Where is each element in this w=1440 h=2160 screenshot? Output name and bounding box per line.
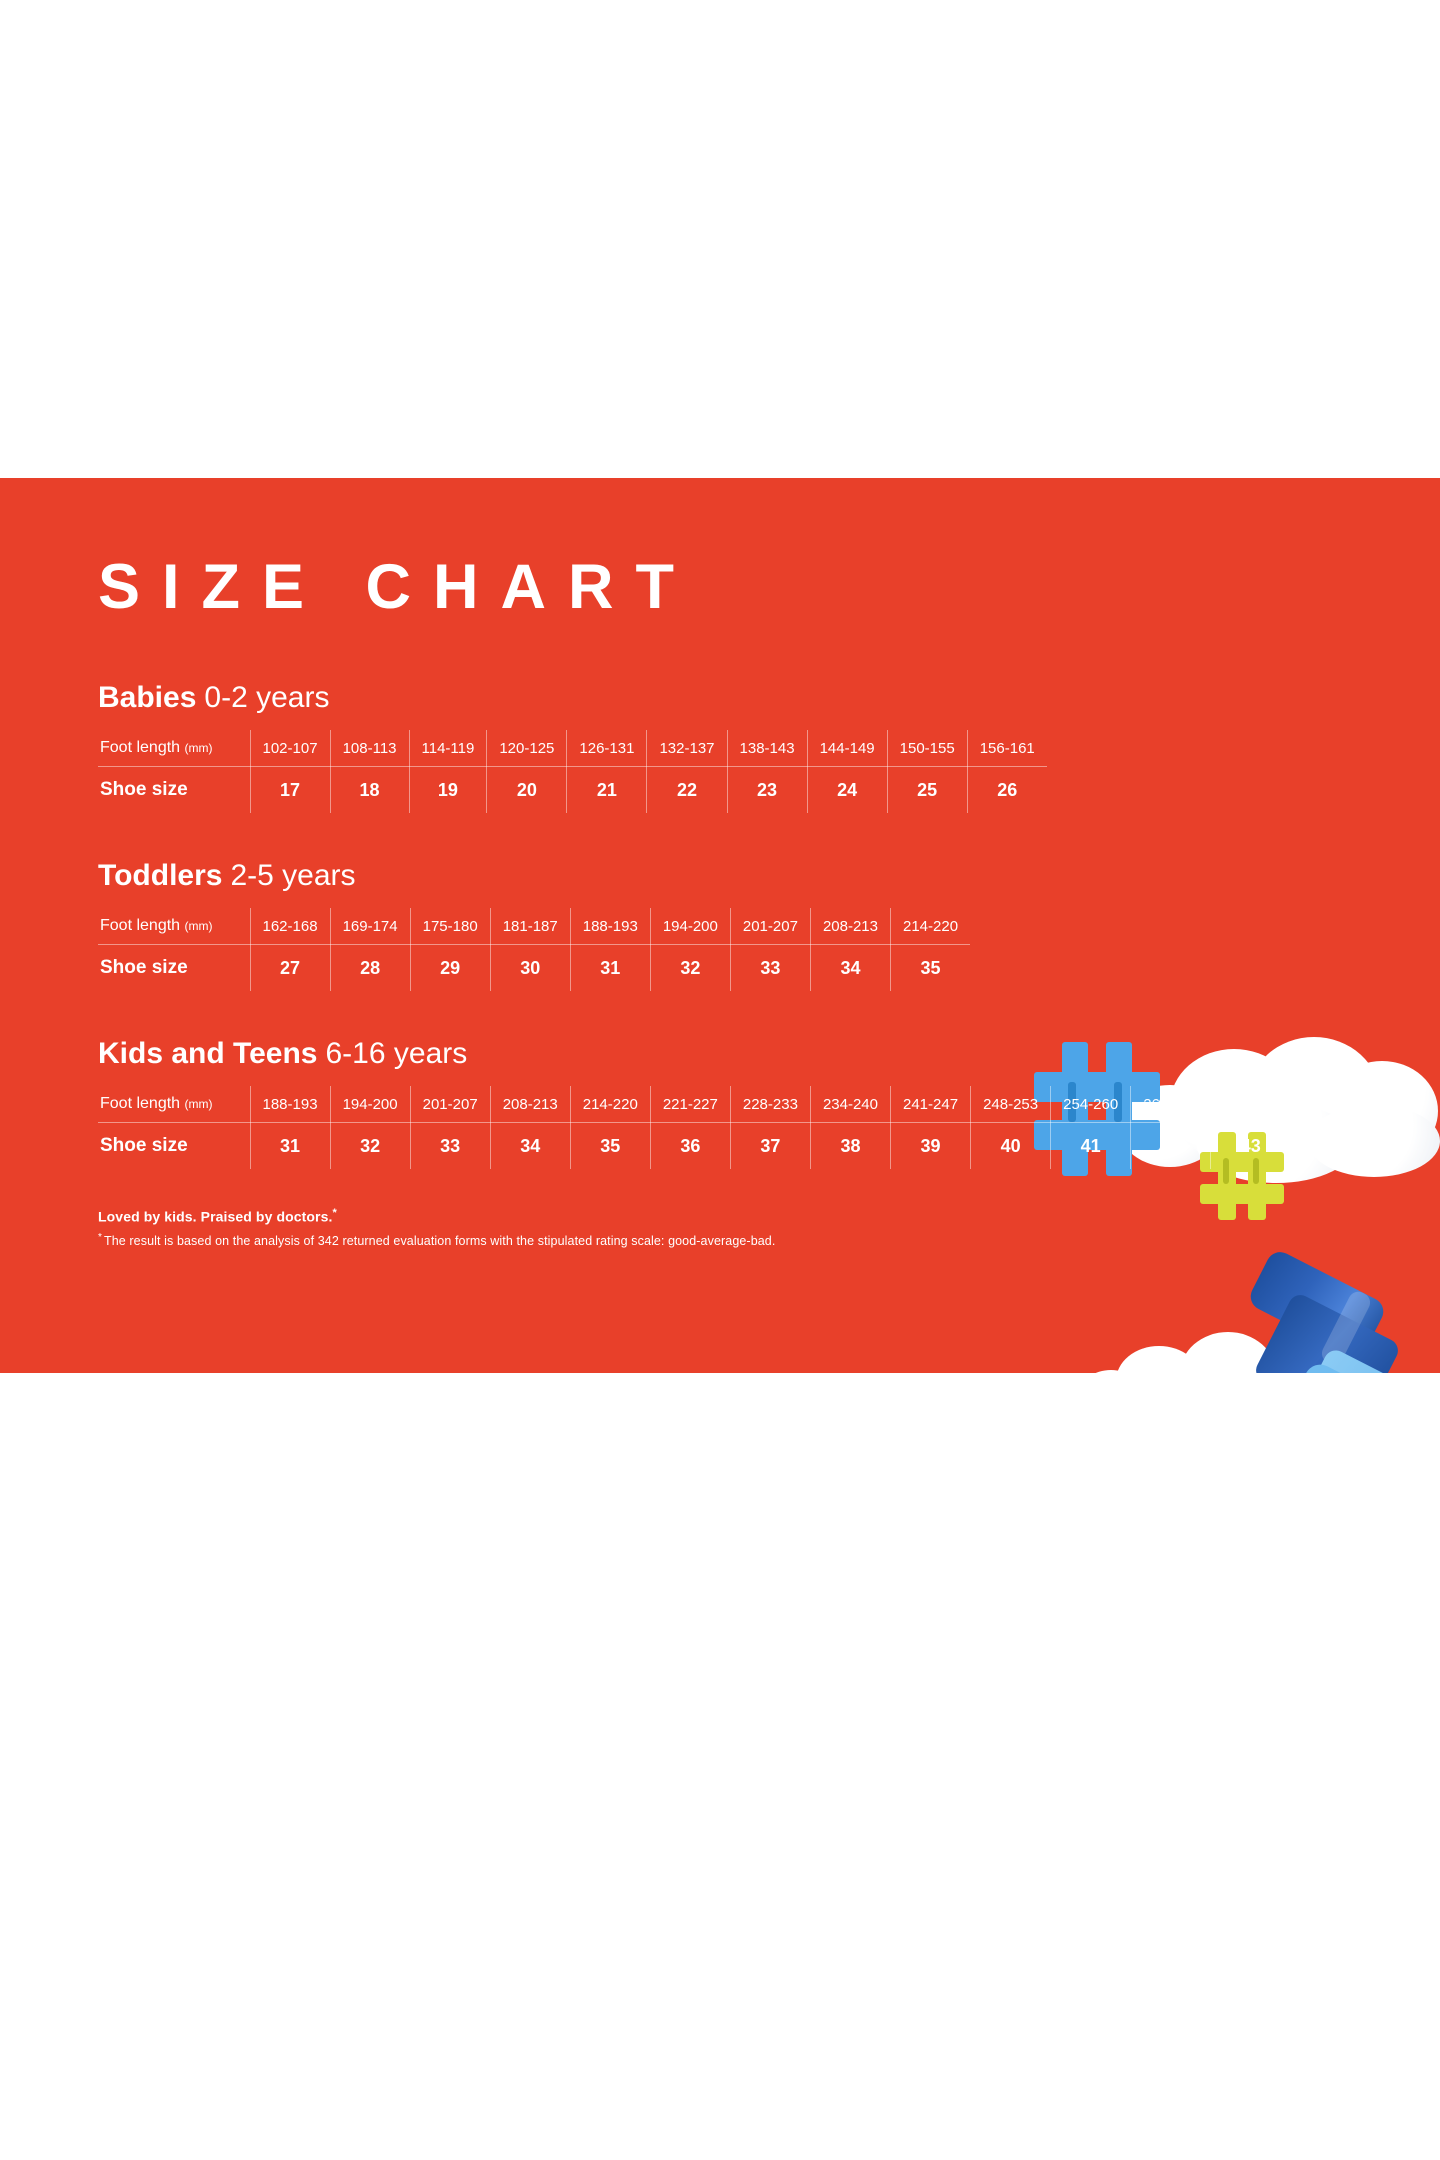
cell-foot-length: 102-107 <box>250 730 330 767</box>
cell-shoe-size: 42 <box>1131 1123 1211 1170</box>
bottle-illustration <box>1215 1273 1440 1373</box>
section-babies: Babies0-2 years Foot length (mm) 102-107… <box>98 681 1342 813</box>
cell-shoe-size: 32 <box>650 945 730 992</box>
row-label-shoe-size: Shoe size <box>98 767 250 814</box>
cell-shoe-size: 34 <box>490 1123 570 1170</box>
cell-shoe-size: 35 <box>570 1123 650 1170</box>
cell-shoe-size: 38 <box>810 1123 890 1170</box>
section-ages-toddlers: 2-5 years <box>230 859 355 892</box>
cloud-illustration-bottom <box>1080 1318 1380 1373</box>
cell-shoe-size: 21 <box>567 767 647 814</box>
cell-shoe-size: 28 <box>330 945 410 992</box>
cell-shoe-size: 23 <box>727 767 807 814</box>
cell-shoe-size: 36 <box>650 1123 730 1170</box>
cell-foot-length: 214-220 <box>570 1086 650 1123</box>
cell-shoe-size: 27 <box>250 945 330 992</box>
section-ages-kids-and-teens: 6-16 years <box>326 1037 468 1070</box>
foot-length-label-text: Foot length <box>100 739 180 756</box>
size-table-babies: Foot length (mm) 102-107 108-113 114-119… <box>98 730 1047 813</box>
claim-asterisk: * <box>332 1207 336 1219</box>
cell-foot-length: 114-119 <box>409 730 487 767</box>
cell-shoe-size: 20 <box>487 767 567 814</box>
cell-foot-length: 181-187 <box>490 908 570 945</box>
row-label-foot-length: Foot length (mm) <box>98 1086 250 1123</box>
footnote-asterisk: * <box>98 1232 102 1243</box>
cell-shoe-size: 34 <box>810 945 890 992</box>
table-row-shoe-size: Shoe size 27 28 29 30 31 32 33 34 35 <box>98 945 970 992</box>
row-label-foot-length: Foot length (mm) <box>98 730 250 767</box>
size-table-toddlers: Foot length (mm) 162-168 169-174 175-180… <box>98 908 970 991</box>
cell-foot-length: 169-174 <box>330 908 410 945</box>
section-heading-toddlers: Toddlers2-5 years <box>98 859 1342 892</box>
table-row-foot-length: Foot length (mm) 162-168 169-174 175-180… <box>98 908 970 945</box>
cell-shoe-size: 33 <box>410 1123 490 1170</box>
section-heading-kids-and-teens: Kids and Teens6-16 years <box>98 1037 1342 1070</box>
foot-length-unit: (mm) <box>185 741 213 755</box>
cell-shoe-size: 31 <box>250 1123 330 1170</box>
cell-foot-length: 156-161 <box>967 730 1047 767</box>
row-label-foot-length: Foot length (mm) <box>98 908 250 945</box>
cell-foot-length: 234-240 <box>810 1086 890 1123</box>
section-name-babies: Babies <box>98 681 196 714</box>
size-chart-poster: SIZE CHART Babies0-2 years Foot length (… <box>0 478 1440 1373</box>
cell-shoe-size: 25 <box>887 767 967 814</box>
foot-length-unit: (mm) <box>185 1097 213 1111</box>
cell-shoe-size: 31 <box>570 945 650 992</box>
section-toddlers: Toddlers2-5 years Foot length (mm) 162-1… <box>98 859 1342 991</box>
cell-foot-length: 268-274 <box>1211 1086 1291 1123</box>
footnote-label: The result is based on the analysis of 3… <box>104 1234 775 1248</box>
foot-length-label-text: Foot length <box>100 917 180 934</box>
poster-content: SIZE CHART Babies0-2 years Foot length (… <box>0 478 1440 1248</box>
cell-foot-length: 162-168 <box>250 908 330 945</box>
row-label-shoe-size: Shoe size <box>98 945 250 992</box>
cell-foot-length: 120-125 <box>487 730 567 767</box>
cell-foot-length: 221-227 <box>650 1086 730 1123</box>
cell-foot-length: 201-207 <box>410 1086 490 1123</box>
cell-foot-length: 194-200 <box>330 1086 410 1123</box>
cell-foot-length: 208-213 <box>490 1086 570 1123</box>
cell-foot-length: 208-213 <box>810 908 890 945</box>
page-title: SIZE CHART <box>98 556 1342 619</box>
cell-foot-length: 126-131 <box>567 730 647 767</box>
cell-foot-length: 228-233 <box>730 1086 810 1123</box>
cell-shoe-size: 19 <box>409 767 487 814</box>
cell-shoe-size: 26 <box>967 767 1047 814</box>
cell-foot-length: 175-180 <box>410 908 490 945</box>
cell-shoe-size: 39 <box>891 1123 971 1170</box>
cell-shoe-size: 33 <box>730 945 810 992</box>
cell-shoe-size: 43 <box>1211 1123 1291 1170</box>
cell-shoe-size: 35 <box>891 945 971 992</box>
claim-label: Loved by kids. Praised by doctors. <box>98 1209 332 1225</box>
page-canvas: SIZE CHART Babies0-2 years Foot length (… <box>0 0 1440 2160</box>
table-row-foot-length: Foot length (mm) 102-107 108-113 114-119… <box>98 730 1047 767</box>
cell-foot-length: 144-149 <box>807 730 887 767</box>
cell-shoe-size: 29 <box>410 945 490 992</box>
section-name-kids-and-teens: Kids and Teens <box>98 1037 318 1070</box>
cell-shoe-size: 40 <box>971 1123 1051 1170</box>
section-kids-and-teens: Kids and Teens6-16 years Foot length (mm… <box>98 1037 1342 1169</box>
cell-foot-length: 138-143 <box>727 730 807 767</box>
cell-shoe-size: 17 <box>250 767 330 814</box>
cell-foot-length: 214-220 <box>891 908 971 945</box>
foot-length-unit: (mm) <box>185 919 213 933</box>
table-row-shoe-size: Shoe size 17 18 19 20 21 22 23 24 25 26 <box>98 767 1047 814</box>
cell-shoe-size: 18 <box>330 767 409 814</box>
claim-text: Loved by kids. Praised by doctors.* <box>98 1207 1342 1225</box>
foot-length-label-text: Foot length <box>100 1095 180 1112</box>
cell-shoe-size: 24 <box>807 767 887 814</box>
cell-foot-length: 132-137 <box>647 730 727 767</box>
poster-footer: Loved by kids. Praised by doctors.* *The… <box>98 1207 1342 1248</box>
cell-foot-length: 194-200 <box>650 908 730 945</box>
cell-foot-length: 188-193 <box>570 908 650 945</box>
cell-shoe-size: 41 <box>1051 1123 1131 1170</box>
size-table-kids-and-teens: Foot length (mm) 188-193 194-200 201-207… <box>98 1086 1290 1169</box>
table-row-foot-length: Foot length (mm) 188-193 194-200 201-207… <box>98 1086 1290 1123</box>
footnote-text: *The result is based on the analysis of … <box>98 1232 1342 1248</box>
section-name-toddlers: Toddlers <box>98 859 222 892</box>
cell-foot-length: 241-247 <box>891 1086 971 1123</box>
cell-foot-length: 248-253 <box>971 1086 1051 1123</box>
cell-foot-length: 188-193 <box>250 1086 330 1123</box>
cell-shoe-size: 32 <box>330 1123 410 1170</box>
row-label-shoe-size: Shoe size <box>98 1123 250 1170</box>
cell-foot-length: 201-207 <box>730 908 810 945</box>
section-ages-babies: 0-2 years <box>204 681 329 714</box>
cell-foot-length: 150-155 <box>887 730 967 767</box>
cell-foot-length: 254-260 <box>1051 1086 1131 1123</box>
section-heading-babies: Babies0-2 years <box>98 681 1342 714</box>
cell-shoe-size: 30 <box>490 945 570 992</box>
cell-shoe-size: 37 <box>730 1123 810 1170</box>
cell-foot-length: 108-113 <box>330 730 409 767</box>
table-row-shoe-size: Shoe size 31 32 33 34 35 36 37 38 39 40 … <box>98 1123 1290 1170</box>
cell-shoe-size: 22 <box>647 767 727 814</box>
cell-foot-length: 261-267 <box>1131 1086 1211 1123</box>
